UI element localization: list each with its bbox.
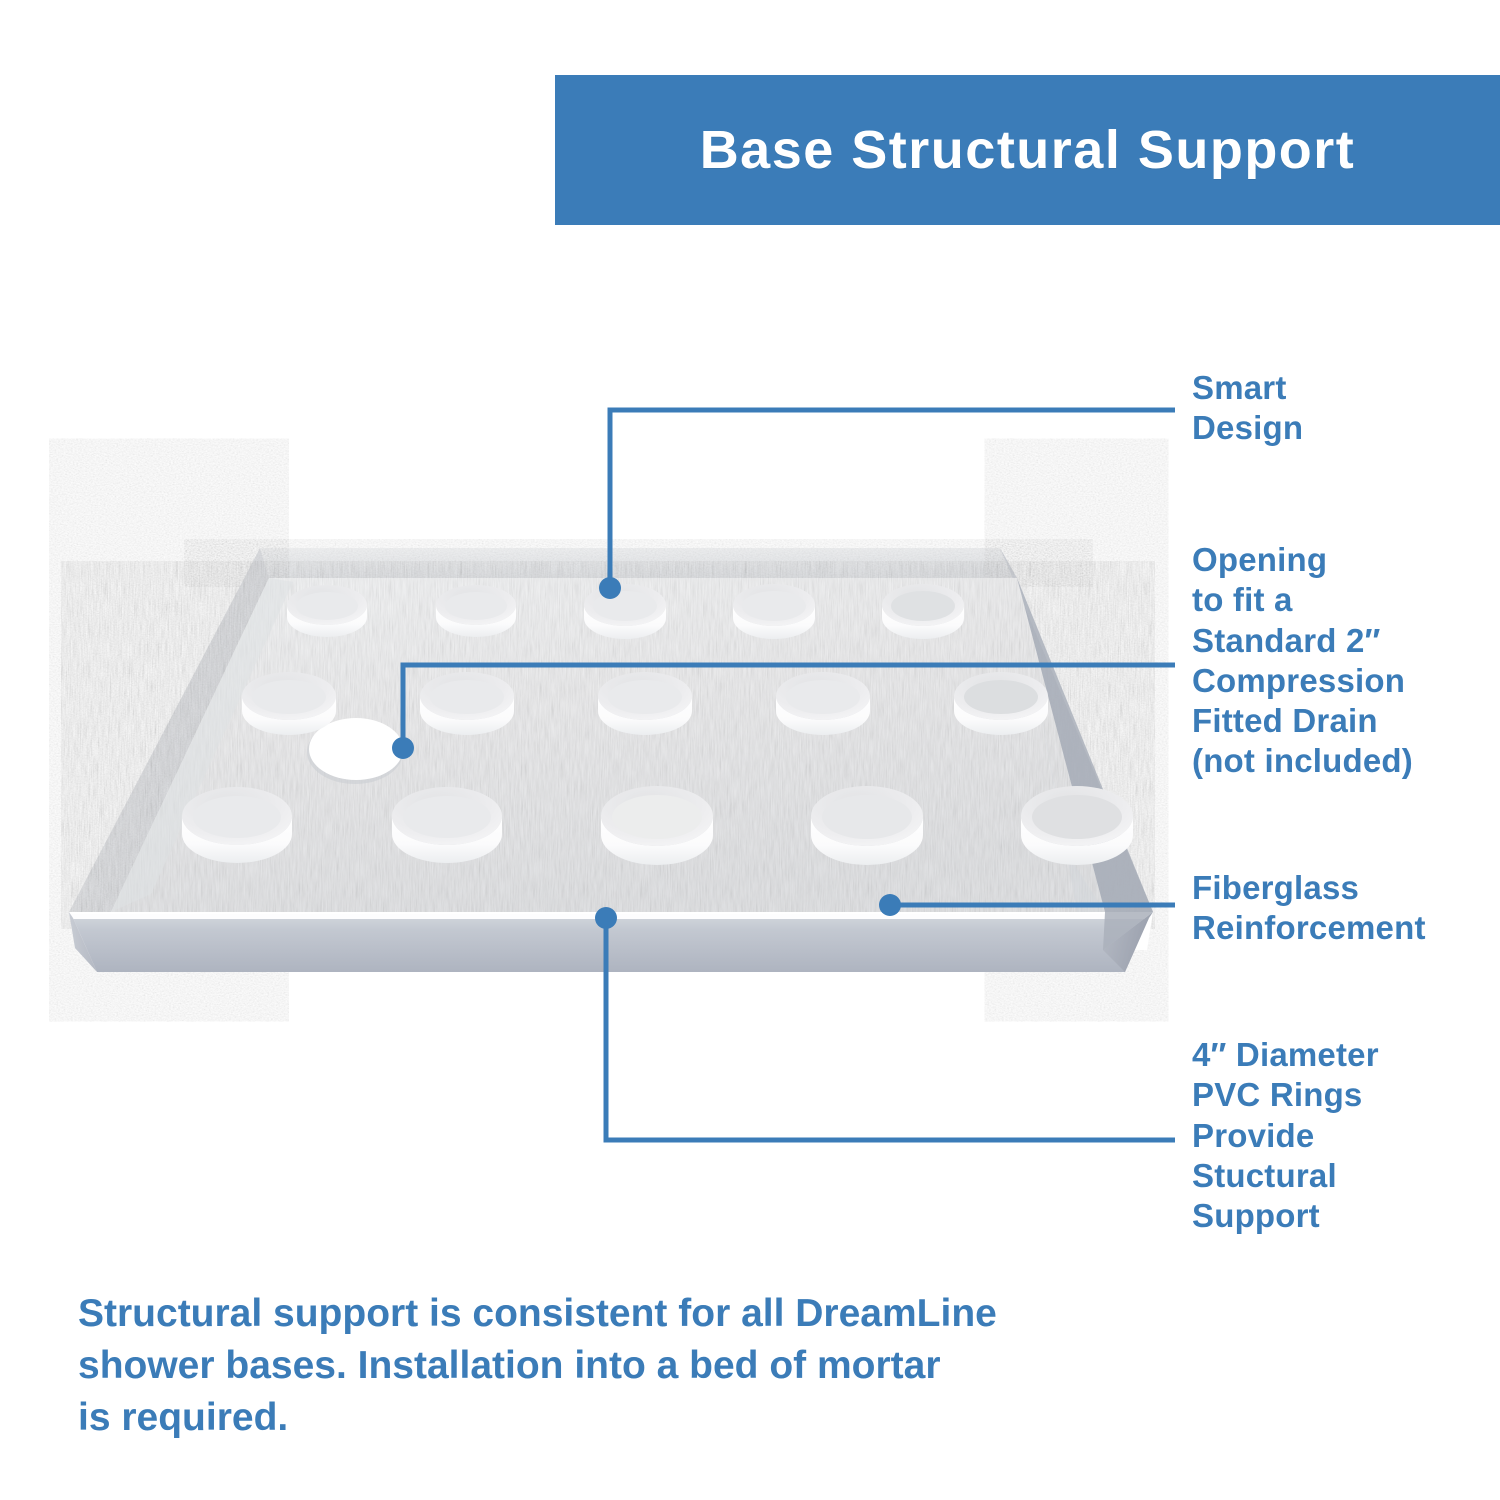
pvc-ring bbox=[287, 585, 367, 637]
callout-line: Standard 2″ bbox=[1192, 621, 1413, 661]
pvc-ring bbox=[776, 672, 870, 735]
product-illustration bbox=[55, 520, 1165, 990]
header-banner: Base Structural Support bbox=[555, 75, 1500, 225]
callout-line: Provide bbox=[1192, 1116, 1379, 1156]
callout-line: Smart bbox=[1192, 368, 1303, 408]
pvc-ring bbox=[954, 672, 1048, 735]
pvc-ring bbox=[182, 787, 292, 863]
callout-line: Fiberglass bbox=[1192, 868, 1426, 908]
callout-line: Compression bbox=[1192, 661, 1413, 701]
pvc-ring bbox=[242, 672, 336, 735]
callout-line: Fitted Drain bbox=[1192, 701, 1413, 741]
shower-base-graphic bbox=[55, 520, 1165, 990]
callout-smart-design: Smart Design bbox=[1192, 368, 1303, 449]
pvc-ring bbox=[733, 584, 815, 639]
callout-line: Reinforcement bbox=[1192, 908, 1426, 948]
page-title: Base Structural Support bbox=[700, 119, 1356, 181]
callout-line: to fit a bbox=[1192, 580, 1413, 620]
callout-line: PVC Rings bbox=[1192, 1075, 1379, 1115]
pvc-ring bbox=[584, 584, 666, 639]
callout-line: Opening bbox=[1192, 540, 1413, 580]
footer-line: shower bases. Installation into a bed of… bbox=[78, 1340, 1078, 1392]
footer-line: is required. bbox=[78, 1392, 1078, 1444]
callout-line: Stuctural bbox=[1192, 1156, 1379, 1196]
callout-line: 4″ Diameter bbox=[1192, 1035, 1379, 1075]
callout-line: (not included) bbox=[1192, 741, 1413, 781]
pvc-ring bbox=[598, 672, 692, 735]
pvc-ring bbox=[882, 584, 964, 639]
pvc-ring bbox=[1021, 786, 1133, 865]
pvc-ring bbox=[601, 786, 713, 865]
footer-note: Structural support is consistent for all… bbox=[78, 1288, 1078, 1444]
callout-fiberglass-reinforcement: Fiberglass Reinforcement bbox=[1192, 868, 1426, 949]
callout-line: Support bbox=[1192, 1196, 1379, 1236]
callout-pvc-rings: 4″ Diameter PVC Rings Provide Stuctural … bbox=[1192, 1035, 1379, 1236]
pvc-ring bbox=[392, 787, 502, 863]
pvc-ring bbox=[420, 672, 514, 735]
footer-line: Structural support is consistent for all… bbox=[78, 1288, 1078, 1340]
callout-drain-opening: Opening to fit a Standard 2″ Compression… bbox=[1192, 540, 1413, 782]
pvc-ring bbox=[811, 786, 923, 865]
pvc-ring bbox=[436, 585, 516, 637]
callout-line: Design bbox=[1192, 408, 1303, 448]
